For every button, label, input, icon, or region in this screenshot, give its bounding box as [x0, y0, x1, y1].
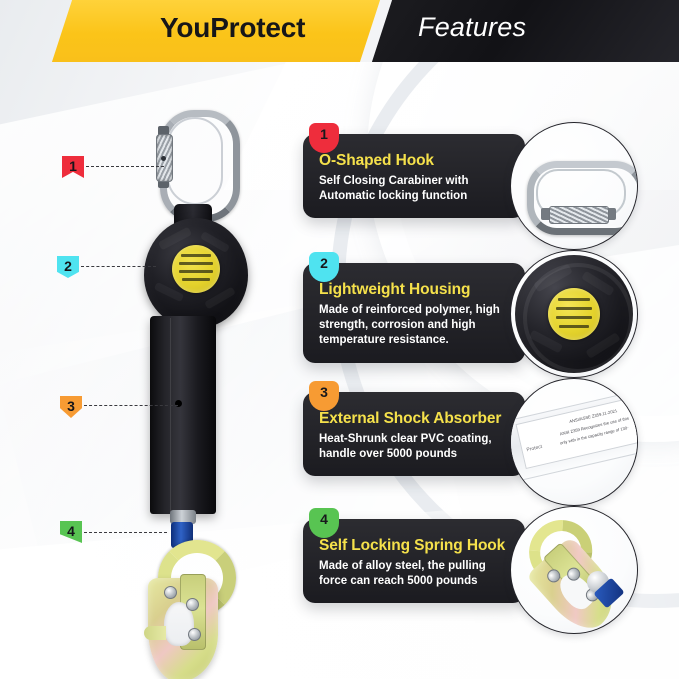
snap-hook-rivet-3	[188, 628, 201, 641]
feature-title-2: Lightweight Housing	[319, 281, 511, 299]
snap-hook-photo	[510, 506, 638, 634]
feature-desc-2: Made of reinforced polymer, high strengt…	[319, 303, 511, 349]
snap-hook-tip	[144, 626, 166, 640]
feature-badge-2: 2	[309, 252, 339, 282]
callout-leader-1	[86, 166, 164, 167]
feature-inset-1	[510, 122, 638, 250]
shock-absorber-sleeve	[150, 316, 216, 514]
feature-inset-3: ANSI/ASSE Z359.11-2021 ANSI Z359 Recogni…	[510, 378, 638, 506]
snap-hook	[142, 540, 228, 679]
section-title: Features	[418, 12, 526, 43]
callout-marker-1: 1	[62, 156, 84, 178]
feature-desc-3: Heat-Shrunk clear PVC coating, handle ov…	[319, 432, 511, 462]
feature-card-1[interactable]: 1 O-Shaped Hook Self Closing Carabiner w…	[303, 134, 525, 218]
sleeve-seam	[170, 318, 171, 512]
feature-inset-2	[510, 250, 638, 378]
infographic-canvas: YouProtect Features	[0, 0, 679, 679]
housing-warning-label	[172, 245, 220, 293]
feature-card-4[interactable]: 4 Self Locking Spring Hook Made of alloy…	[303, 519, 525, 603]
feature-inset-4	[510, 506, 638, 634]
label-brand: Protect	[526, 444, 543, 453]
feature-card-2[interactable]: 2 Lightweight Housing Made of reinforced…	[303, 263, 525, 363]
header-banner: YouProtect Features	[0, 0, 679, 62]
feature-desc-4: Made of alloy steel, the pulling force c…	[319, 559, 511, 589]
housing-photo-label-disc	[548, 288, 600, 340]
carabiner-inner-edge	[167, 117, 223, 205]
callout-leader-3	[84, 405, 178, 406]
snap-hook-rivet-1	[164, 586, 177, 599]
callout-marker-2: 2	[57, 256, 79, 278]
callout-leader-4	[84, 532, 167, 533]
feature-title-4: Self Locking Spring Hook	[319, 537, 511, 555]
feature-desc-1: Self Closing Carabiner with Automatic lo…	[319, 174, 511, 204]
feature-badge-4: 4	[309, 508, 339, 538]
feature-card-3[interactable]: 3 External Shock Absorber Heat-Shrunk cl…	[303, 392, 525, 476]
carabiner-photo-sleeve	[549, 206, 609, 224]
feature-title-3: External Shock Absorber	[319, 410, 511, 428]
callout-marker-4: 4	[60, 521, 82, 543]
feature-badge-1: 1	[309, 123, 339, 153]
callout-marker-3: 3	[60, 396, 82, 418]
product-photo	[118, 108, 288, 638]
feature-badge-3: 3	[309, 381, 339, 411]
carabiner-pin	[161, 156, 166, 161]
brand-title: YouProtect	[160, 12, 305, 44]
feature-title-1: O-Shaped Hook	[319, 152, 511, 170]
callout-leader-2	[81, 266, 156, 267]
snap-hook-rivet-2	[186, 598, 199, 611]
